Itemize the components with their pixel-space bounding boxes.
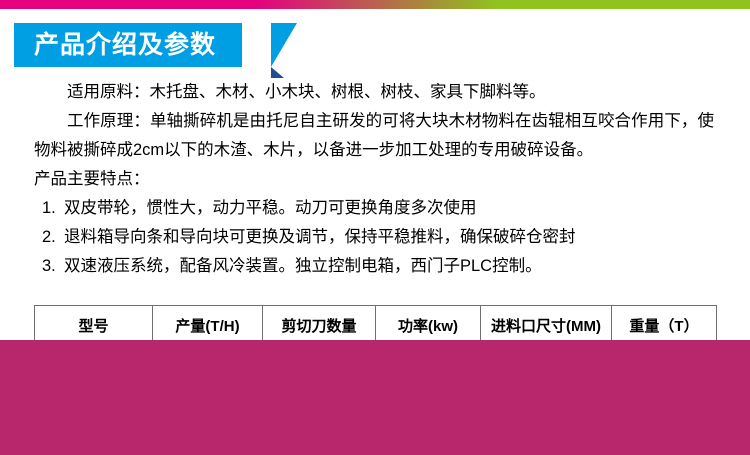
feature-list: 1. 双皮带轮，惯性大，动力平稳。动刀可更换角度多次使用 2. 退料箱导向条和导…: [0, 194, 750, 281]
list-item-label: 双速液压系统，配备风冷装置。独立控制电箱，西门子PLC控制。: [64, 257, 542, 275]
list-item: 2. 退料箱导向条和导向块可更换及调节，保持平稳推料，确保破碎仓密封: [34, 223, 714, 252]
section-banner: 产品介绍及参数: [14, 23, 242, 67]
paragraph-materials: 适用原料：木托盘、木材、小木块、树根、树枝、家具下脚料等。: [0, 78, 750, 107]
list-item-number: 1.: [42, 194, 56, 223]
page-title: 产品介绍及参数: [34, 33, 216, 58]
table-header-cell: 重量（T）: [612, 306, 717, 345]
table-header-cell: 型号: [35, 306, 153, 345]
list-item-label: 双皮带轮，惯性大，动力平稳。动刀可更换角度多次使用: [64, 199, 477, 217]
header-band: 产品介绍及参数: [0, 9, 750, 67]
list-item-number: 3.: [42, 252, 56, 281]
bottom-color-inner: [0, 340, 750, 455]
table-header-cell: 功率(kw): [376, 306, 481, 345]
product-description: 适用原料：木托盘、木材、小木块、树根、树枝、家具下脚料等。 工作原理：单轴撕碎机…: [0, 78, 750, 281]
product-detail-page: 产品介绍及参数 适用原料：木托盘、木材、小木块、树根、树枝、家具下脚料等。 工作…: [0, 0, 750, 455]
list-item-number: 2.: [42, 223, 56, 252]
list-item-label: 退料箱导向条和导向块可更换及调节，保持平稳推料，确保破碎仓密封: [64, 228, 576, 246]
banner-arrow-shape: [271, 23, 297, 67]
table-header-cell: 剪切刀数量: [263, 306, 376, 345]
table-header-row: 型号 产量(T/H) 剪切刀数量 功率(kw) 进料口尺寸(MM) 重量（T）: [35, 306, 717, 345]
list-item: 1. 双皮带轮，惯性大，动力平稳。动刀可更换角度多次使用: [34, 194, 714, 223]
list-item: 3. 双速液压系统，配备风冷装置。独立控制电箱，西门子PLC控制。: [34, 252, 714, 281]
table-header-cell: 进料口尺寸(MM): [481, 306, 612, 345]
paragraph-principle: 工作原理：单轴撕碎机是由托尼自主研发的可将大块木材物料在齿辊相互咬合作用下，使物…: [0, 107, 750, 165]
banner-shadow-shape: [271, 67, 284, 78]
top-gradient-bar: [0, 0, 750, 9]
paragraph-features-heading: 产品主要特点：: [0, 165, 750, 194]
table-header-cell: 产量(T/H): [153, 306, 263, 345]
bottom-color-block: [0, 340, 750, 455]
